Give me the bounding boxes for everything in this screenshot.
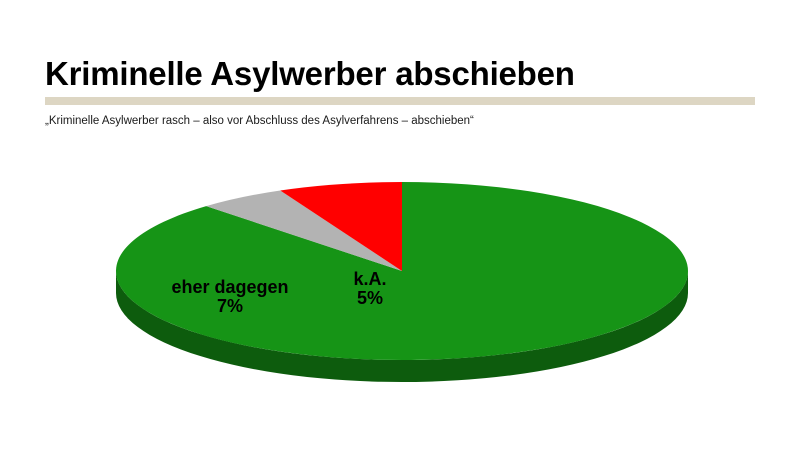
pie-slice-label-ka-name: k.A. xyxy=(315,270,425,289)
pie-chart: eher dagegen 7% k.A. 5% eher dafür 88% xyxy=(0,130,800,430)
title-divider xyxy=(45,97,755,105)
pie-slice-label-eher-dafuer-value: 88% xyxy=(402,432,602,452)
pie-slice-label-eher-dagegen: eher dagegen 7% xyxy=(150,278,310,317)
pie-slice-label-eher-dagegen-name: eher dagegen xyxy=(150,278,310,297)
pie-slice-label-eher-dafuer: eher dafür 88% xyxy=(402,411,602,452)
pie-slice-label-ka: k.A. 5% xyxy=(315,270,425,309)
slide-root: Kriminelle Asylwerber abschieben „Krimin… xyxy=(0,0,800,450)
pie-slice-label-eher-dafuer-name: eher dafür xyxy=(402,411,602,432)
pie-slice-label-ka-value: 5% xyxy=(315,289,425,308)
pie-slice-label-eher-dagegen-value: 7% xyxy=(150,297,310,316)
chart-subtitle: „Kriminelle Asylwerber rasch – also vor … xyxy=(45,113,765,129)
page-title: Kriminelle Asylwerber abschieben xyxy=(45,54,765,94)
